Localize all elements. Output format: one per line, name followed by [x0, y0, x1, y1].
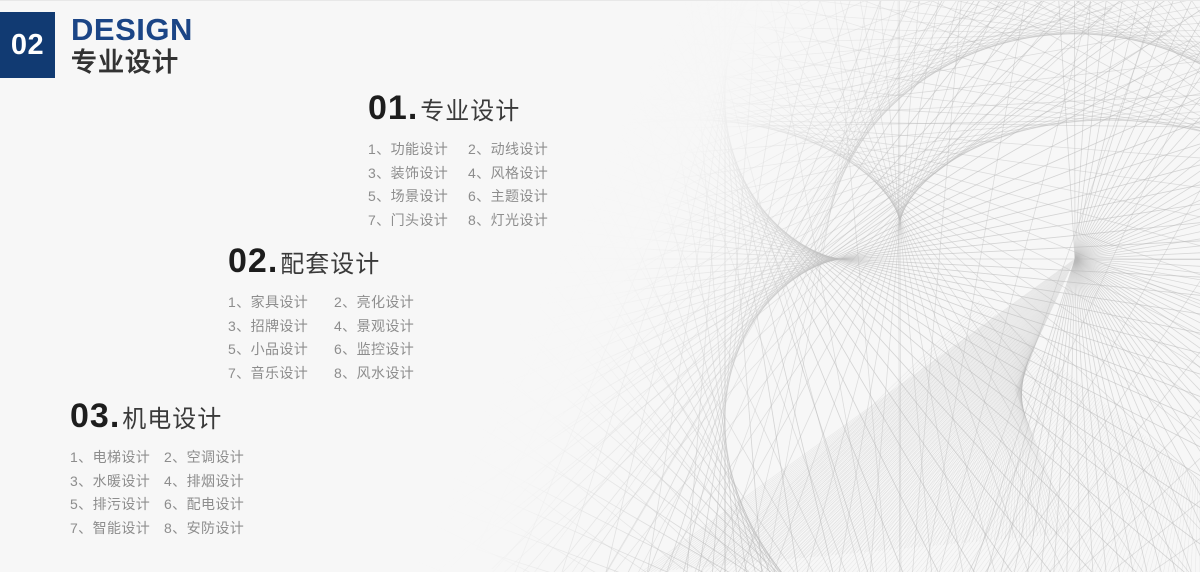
list-item: 7、门头设计 8、灯光设计 [368, 209, 548, 233]
list-item: 1、电梯设计 2、空调设计 [70, 446, 244, 470]
block-01-number: 01. [368, 91, 418, 125]
block-03-number: 03. [70, 399, 120, 433]
block-02-item-5: 5、小品设计 [228, 338, 334, 362]
block-02-item-4: 4、景观设计 [334, 315, 414, 339]
block-02-item-6: 6、监控设计 [334, 338, 414, 362]
section-number-badge: 02 [0, 12, 55, 78]
header-title-chinese: 专业设计 [71, 48, 193, 77]
block-03-list: 1、电梯设计 2、空调设计 3、水暖设计 4、排烟设计 5、排污设计 6、配电设… [70, 446, 244, 540]
slide-header: 02 DESIGN 专业设计 [0, 12, 193, 78]
block-01-item-5: 5、场景设计 [368, 185, 468, 209]
content-block-03: 03. 机电设计 1、电梯设计 2、空调设计 3、水暖设计 4、排烟设计 5、排… [70, 399, 244, 540]
list-item: 3、招牌设计 4、景观设计 [228, 315, 414, 339]
header-title-english: DESIGN [71, 14, 193, 47]
block-02-heading: 02. 配套设计 [228, 244, 414, 278]
list-item: 7、智能设计 8、安防设计 [70, 517, 244, 541]
block-02-item-3: 3、招牌设计 [228, 315, 334, 339]
block-01-item-1: 1、功能设计 [368, 138, 468, 162]
content-block-01: 01. 专业设计 1、功能设计 2、动线设计 3、装饰设计 4、风格设计 5、场… [368, 91, 548, 232]
block-03-item-4: 4、排烟设计 [164, 470, 244, 494]
block-01-item-2: 2、动线设计 [468, 138, 548, 162]
block-01-item-6: 6、主题设计 [468, 185, 548, 209]
block-03-item-3: 3、水暖设计 [70, 470, 164, 494]
block-02-item-8: 8、风水设计 [334, 362, 414, 386]
block-03-title: 机电设计 [122, 408, 222, 432]
list-item: 1、家具设计 2、亮化设计 [228, 291, 414, 315]
list-item: 3、水暖设计 4、排烟设计 [70, 470, 244, 494]
list-item: 5、小品设计 6、监控设计 [228, 338, 414, 362]
block-03-item-2: 2、空调设计 [164, 446, 244, 470]
block-02-item-1: 1、家具设计 [228, 291, 334, 315]
block-03-item-1: 1、电梯设计 [70, 446, 164, 470]
slide-root: 02 DESIGN 专业设计 01. 专业设计 1、功能设计 2、动线设计 3、… [0, 0, 1200, 572]
header-titles: DESIGN 专业设计 [71, 14, 193, 77]
list-item: 5、排污设计 6、配电设计 [70, 493, 244, 517]
block-02-list: 1、家具设计 2、亮化设计 3、招牌设计 4、景观设计 5、小品设计 6、监控设… [228, 291, 414, 385]
block-03-heading: 03. 机电设计 [70, 399, 244, 433]
block-01-item-4: 4、风格设计 [468, 162, 548, 186]
block-01-title: 专业设计 [420, 100, 520, 124]
block-01-heading: 01. 专业设计 [368, 91, 548, 125]
block-03-item-8: 8、安防设计 [164, 517, 244, 541]
list-item: 7、音乐设计 8、风水设计 [228, 362, 414, 386]
list-item: 3、装饰设计 4、风格设计 [368, 162, 548, 186]
block-02-item-7: 7、音乐设计 [228, 362, 334, 386]
block-01-item-3: 3、装饰设计 [368, 162, 468, 186]
block-01-list: 1、功能设计 2、动线设计 3、装饰设计 4、风格设计 5、场景设计 6、主题设… [368, 138, 548, 232]
list-item: 5、场景设计 6、主题设计 [368, 185, 548, 209]
block-03-item-5: 5、排污设计 [70, 493, 164, 517]
block-02-number: 02. [228, 244, 278, 278]
block-02-item-2: 2、亮化设计 [334, 291, 414, 315]
content-block-02: 02. 配套设计 1、家具设计 2、亮化设计 3、招牌设计 4、景观设计 5、小… [228, 244, 414, 385]
block-02-title: 配套设计 [280, 253, 380, 277]
list-item: 1、功能设计 2、动线设计 [368, 138, 548, 162]
block-01-item-7: 7、门头设计 [368, 209, 468, 233]
block-03-item-7: 7、智能设计 [70, 517, 164, 541]
block-01-item-8: 8、灯光设计 [468, 209, 548, 233]
block-03-item-6: 6、配电设计 [164, 493, 244, 517]
section-number-text: 02 [11, 31, 44, 60]
